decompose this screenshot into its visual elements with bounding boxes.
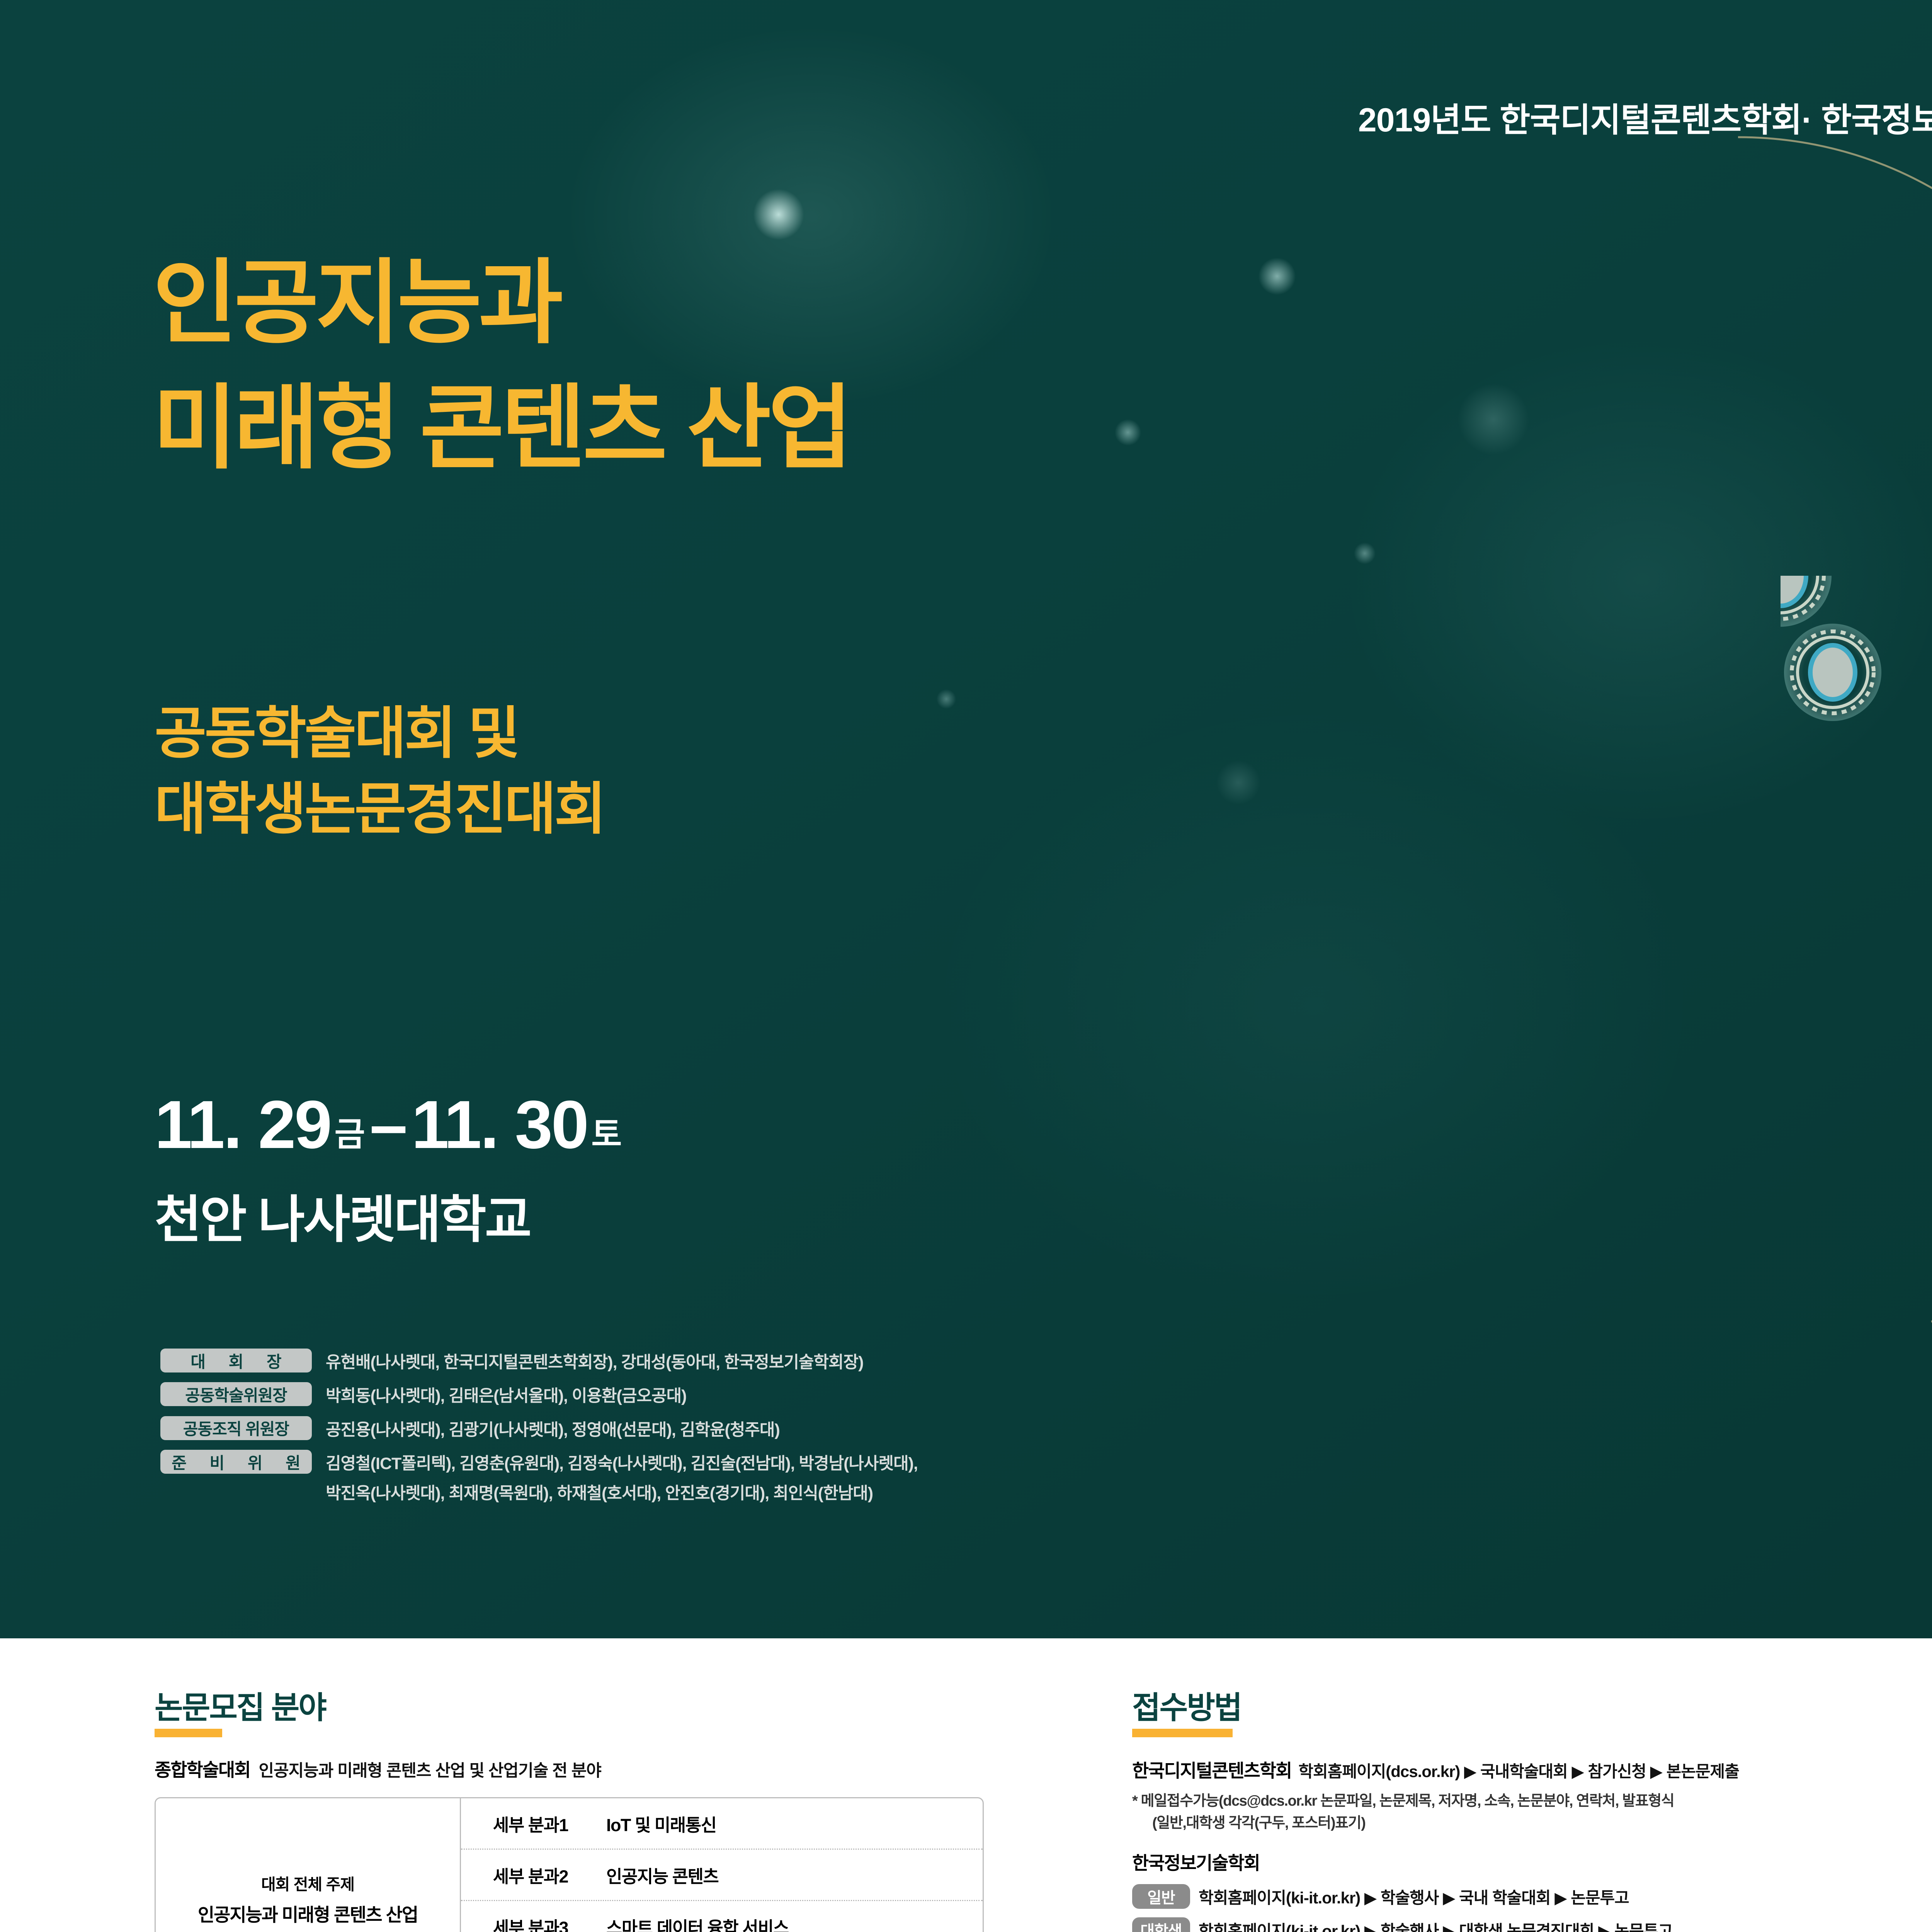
dcs-note-1: * 메일접수가능(dcs@dcs.or.kr 논문파일, 논문제목, 저자명, … bbox=[1132, 1790, 1932, 1812]
event-venue: 천안 나사렛대학교 bbox=[155, 1179, 530, 1252]
general-session-desc: 인공지능과 미래형 콘텐츠 산업 및 산업기술 전 분야 bbox=[259, 1762, 601, 1780]
hero-section: 2019년도 한국디지털콘텐츠학회· 한국정보기술학회 인공지능과 미래형 콘텐… bbox=[0, 0, 1932, 1638]
bokeh-dot bbox=[935, 688, 957, 710]
committee-role: 준 비 위 원 bbox=[160, 1450, 312, 1474]
hero-header-societies: 2019년도 한국디지털콘텐츠학회· 한국정보기술학회 bbox=[1358, 93, 1932, 141]
bokeh-dot bbox=[750, 185, 808, 243]
date-dash: – bbox=[370, 1087, 406, 1163]
conference-poster: 2019년도 한국디지털콘텐츠학회· 한국정보기술학회 인공지능과 미래형 콘텐… bbox=[0, 0, 1932, 1932]
subtitle-line-2: 대학생논문경진대회 bbox=[155, 771, 604, 847]
theme-label: 대회 전체 주제 bbox=[261, 1871, 354, 1895]
dcs-path: 학회홈페이지(dcs.or.kr) ▶ 국내학술대회 ▶ 참가신청 ▶ 본논문제… bbox=[1298, 1762, 1739, 1781]
track-name: IoT 및 미래통신 bbox=[600, 1798, 983, 1849]
heading-underline bbox=[1132, 1729, 1233, 1737]
committee-names-more: 박진옥(나사렛대), 최재명(목원대), 하재철(호서대), 안진호(경기대),… bbox=[326, 1481, 918, 1506]
badge-general: 일반 bbox=[1132, 1884, 1190, 1909]
apply-block: 접수방법 한국디지털콘텐츠학회 학회홈페이지(dcs.or.kr) ▶ 국내학술… bbox=[1132, 1692, 1932, 1932]
committee-names: 박희동(나사렛대), 김태은(남서울대), 이용환(금오공대) bbox=[326, 1387, 686, 1405]
kiit-path-general: 학회홈페이지(ki-it.or.kr) ▶ 학술행사 ▶ 국내 학술대회 ▶ 논… bbox=[1199, 1885, 1629, 1908]
theme-value: 인공지능과 미래형 콘텐츠 산업 bbox=[198, 1900, 418, 1927]
track-no: 세부 분과2 bbox=[461, 1850, 600, 1900]
page-subtitle: 공동학술대회 및 대학생논문경진대회 bbox=[155, 696, 604, 847]
general-session-label: 종합학술대회 bbox=[155, 1760, 250, 1780]
apply-heading: 접수방법 bbox=[1132, 1692, 1932, 1723]
track-no: 세부 분과1 bbox=[461, 1798, 600, 1849]
papers-heading: 논문모집 분야 bbox=[155, 1692, 1043, 1723]
body-section: 논문모집 분야 종합학술대회 인공지능과 미래형 콘텐츠 산업 및 산업기술 전… bbox=[0, 1638, 1932, 1932]
theme-cell: 대회 전체 주제 인공지능과 미래형 콘텐츠 산업 bbox=[156, 1798, 461, 1932]
bokeh-dot bbox=[1113, 417, 1143, 447]
committee-row: 준 비 위 원 김영철(ICT폴리텍), 김영춘(유원대), 김정숙(나사렛대)… bbox=[160, 1450, 918, 1507]
general-session-row: 종합학술대회 인공지능과 미래형 콘텐츠 산업 및 산업기술 전 분야 bbox=[155, 1755, 1043, 1782]
committee-role: 공동학술위원장 bbox=[160, 1382, 312, 1406]
kiit-path-student: 학회홈페이지(ki-it.or.kr) ▶ 학술행사 ▶ 대학생 논문경진대회 … bbox=[1199, 1918, 1673, 1932]
committee-row: 대 회 장 유현배(나사렛대, 한국디지털콘텐츠학회장), 강대성(동아대, 한… bbox=[160, 1349, 918, 1375]
heading-underline bbox=[155, 1729, 222, 1737]
table-row: 세부 분과3 스마트 데이터 융합 서비스 bbox=[461, 1901, 983, 1932]
committee-members: 공진용(나사렛대), 김광기(나사렛대), 정영애(선문대), 김학윤(청주대) bbox=[326, 1416, 780, 1443]
committee-members: 김영철(ICT폴리텍), 김영춘(유원대), 김정숙(나사렛대), 김진술(전남… bbox=[326, 1450, 918, 1507]
event-date: 11. 29금–11. 30토 bbox=[155, 1086, 623, 1164]
date-end: 11. 30 bbox=[412, 1087, 588, 1163]
committee-row: 공동학술위원장 박희동(나사렛대), 김태은(남서울대), 이용환(금오공대) bbox=[160, 1382, 918, 1409]
committee-row: 공동조직 위원장 공진용(나사렛대), 김광기(나사렛대), 정영애(선문대),… bbox=[160, 1416, 918, 1443]
committee-names: 유현배(나사렛대, 한국디지털콘텐츠학회장), 강대성(동아대, 한국정보기술학… bbox=[326, 1353, 863, 1372]
dcs-label: 한국디지털콘텐츠학회 bbox=[1132, 1760, 1291, 1781]
title-line-1: 인공지능과 bbox=[153, 252, 560, 354]
table-row: 대회 전체 주제 인공지능과 미래형 콘텐츠 산업 세부 분과1 IoT 및 미… bbox=[156, 1798, 983, 1932]
tracks-table: 대회 전체 주제 인공지능과 미래형 콘텐츠 산업 세부 분과1 IoT 및 미… bbox=[155, 1797, 984, 1932]
ai-circuit-head-graphic bbox=[1359, 116, 1932, 1391]
date-end-dow: 토 bbox=[591, 1116, 622, 1153]
committee-role: 대 회 장 bbox=[160, 1349, 312, 1372]
badge-student: 대학생 bbox=[1132, 1917, 1190, 1932]
bokeh-dot bbox=[1213, 757, 1264, 808]
bokeh-dot bbox=[1256, 255, 1298, 298]
tracks-list: 세부 분과1 IoT 및 미래통신 세부 분과2 인공지능 콘텐츠 세부 분과3… bbox=[461, 1798, 983, 1932]
table-row: 세부 분과1 IoT 및 미래통신 bbox=[461, 1798, 983, 1850]
kiit-apply-row: 대학생 학회홈페이지(ki-it.or.kr) ▶ 학술행사 ▶ 대학생 논문경… bbox=[1132, 1917, 1932, 1932]
table-row: 세부 분과2 인공지능 콘텐츠 bbox=[461, 1850, 983, 1901]
committee-list: 대 회 장 유현배(나사렛대, 한국디지털콘텐츠학회장), 강대성(동아대, 한… bbox=[160, 1349, 918, 1514]
kiit-label: 한국정보기술학회 bbox=[1132, 1848, 1932, 1875]
subtitle-line-1: 공동학술대회 및 bbox=[155, 696, 604, 771]
kiit-apply-row: 일반 학회홈페이지(ki-it.or.kr) ▶ 학술행사 ▶ 국내 학술대회 … bbox=[1132, 1884, 1932, 1909]
title-line-2: 미래형 콘텐츠 산업 bbox=[153, 372, 850, 485]
committee-role: 공동조직 위원장 bbox=[160, 1416, 312, 1440]
track-name: 인공지능 콘텐츠 bbox=[600, 1850, 983, 1900]
papers-block: 논문모집 분야 종합학술대회 인공지능과 미래형 콘텐츠 산업 및 산업기술 전… bbox=[155, 1692, 1043, 1932]
track-no: 세부 분과3 bbox=[461, 1901, 600, 1932]
date-start: 11. 29 bbox=[155, 1087, 331, 1163]
date-start-dow: 금 bbox=[335, 1116, 365, 1153]
apply-dcs-row: 한국디지털콘텐츠학회 학회홈페이지(dcs.or.kr) ▶ 국내학술대회 ▶ … bbox=[1132, 1756, 1932, 1782]
committee-members: 박희동(나사렛대), 김태은(남서울대), 이용환(금오공대) bbox=[326, 1382, 686, 1409]
dcs-note-2: (일반,대학생 각각(구두, 포스터)표기) bbox=[1152, 1812, 1932, 1834]
committee-names: 김영철(ICT폴리텍), 김영춘(유원대), 김정숙(나사렛대), 김진술(전남… bbox=[326, 1454, 918, 1473]
committee-members: 유현배(나사렛대, 한국디지털콘텐츠학회장), 강대성(동아대, 한국정보기술학… bbox=[326, 1349, 863, 1375]
committee-names: 공진용(나사렛대), 김광기(나사렛대), 정영애(선문대), 김학윤(청주대) bbox=[326, 1421, 780, 1439]
track-name: 스마트 데이터 융합 서비스 bbox=[600, 1901, 983, 1932]
page-title: 인공지능과 미래형 콘텐츠 산업 bbox=[153, 247, 850, 485]
